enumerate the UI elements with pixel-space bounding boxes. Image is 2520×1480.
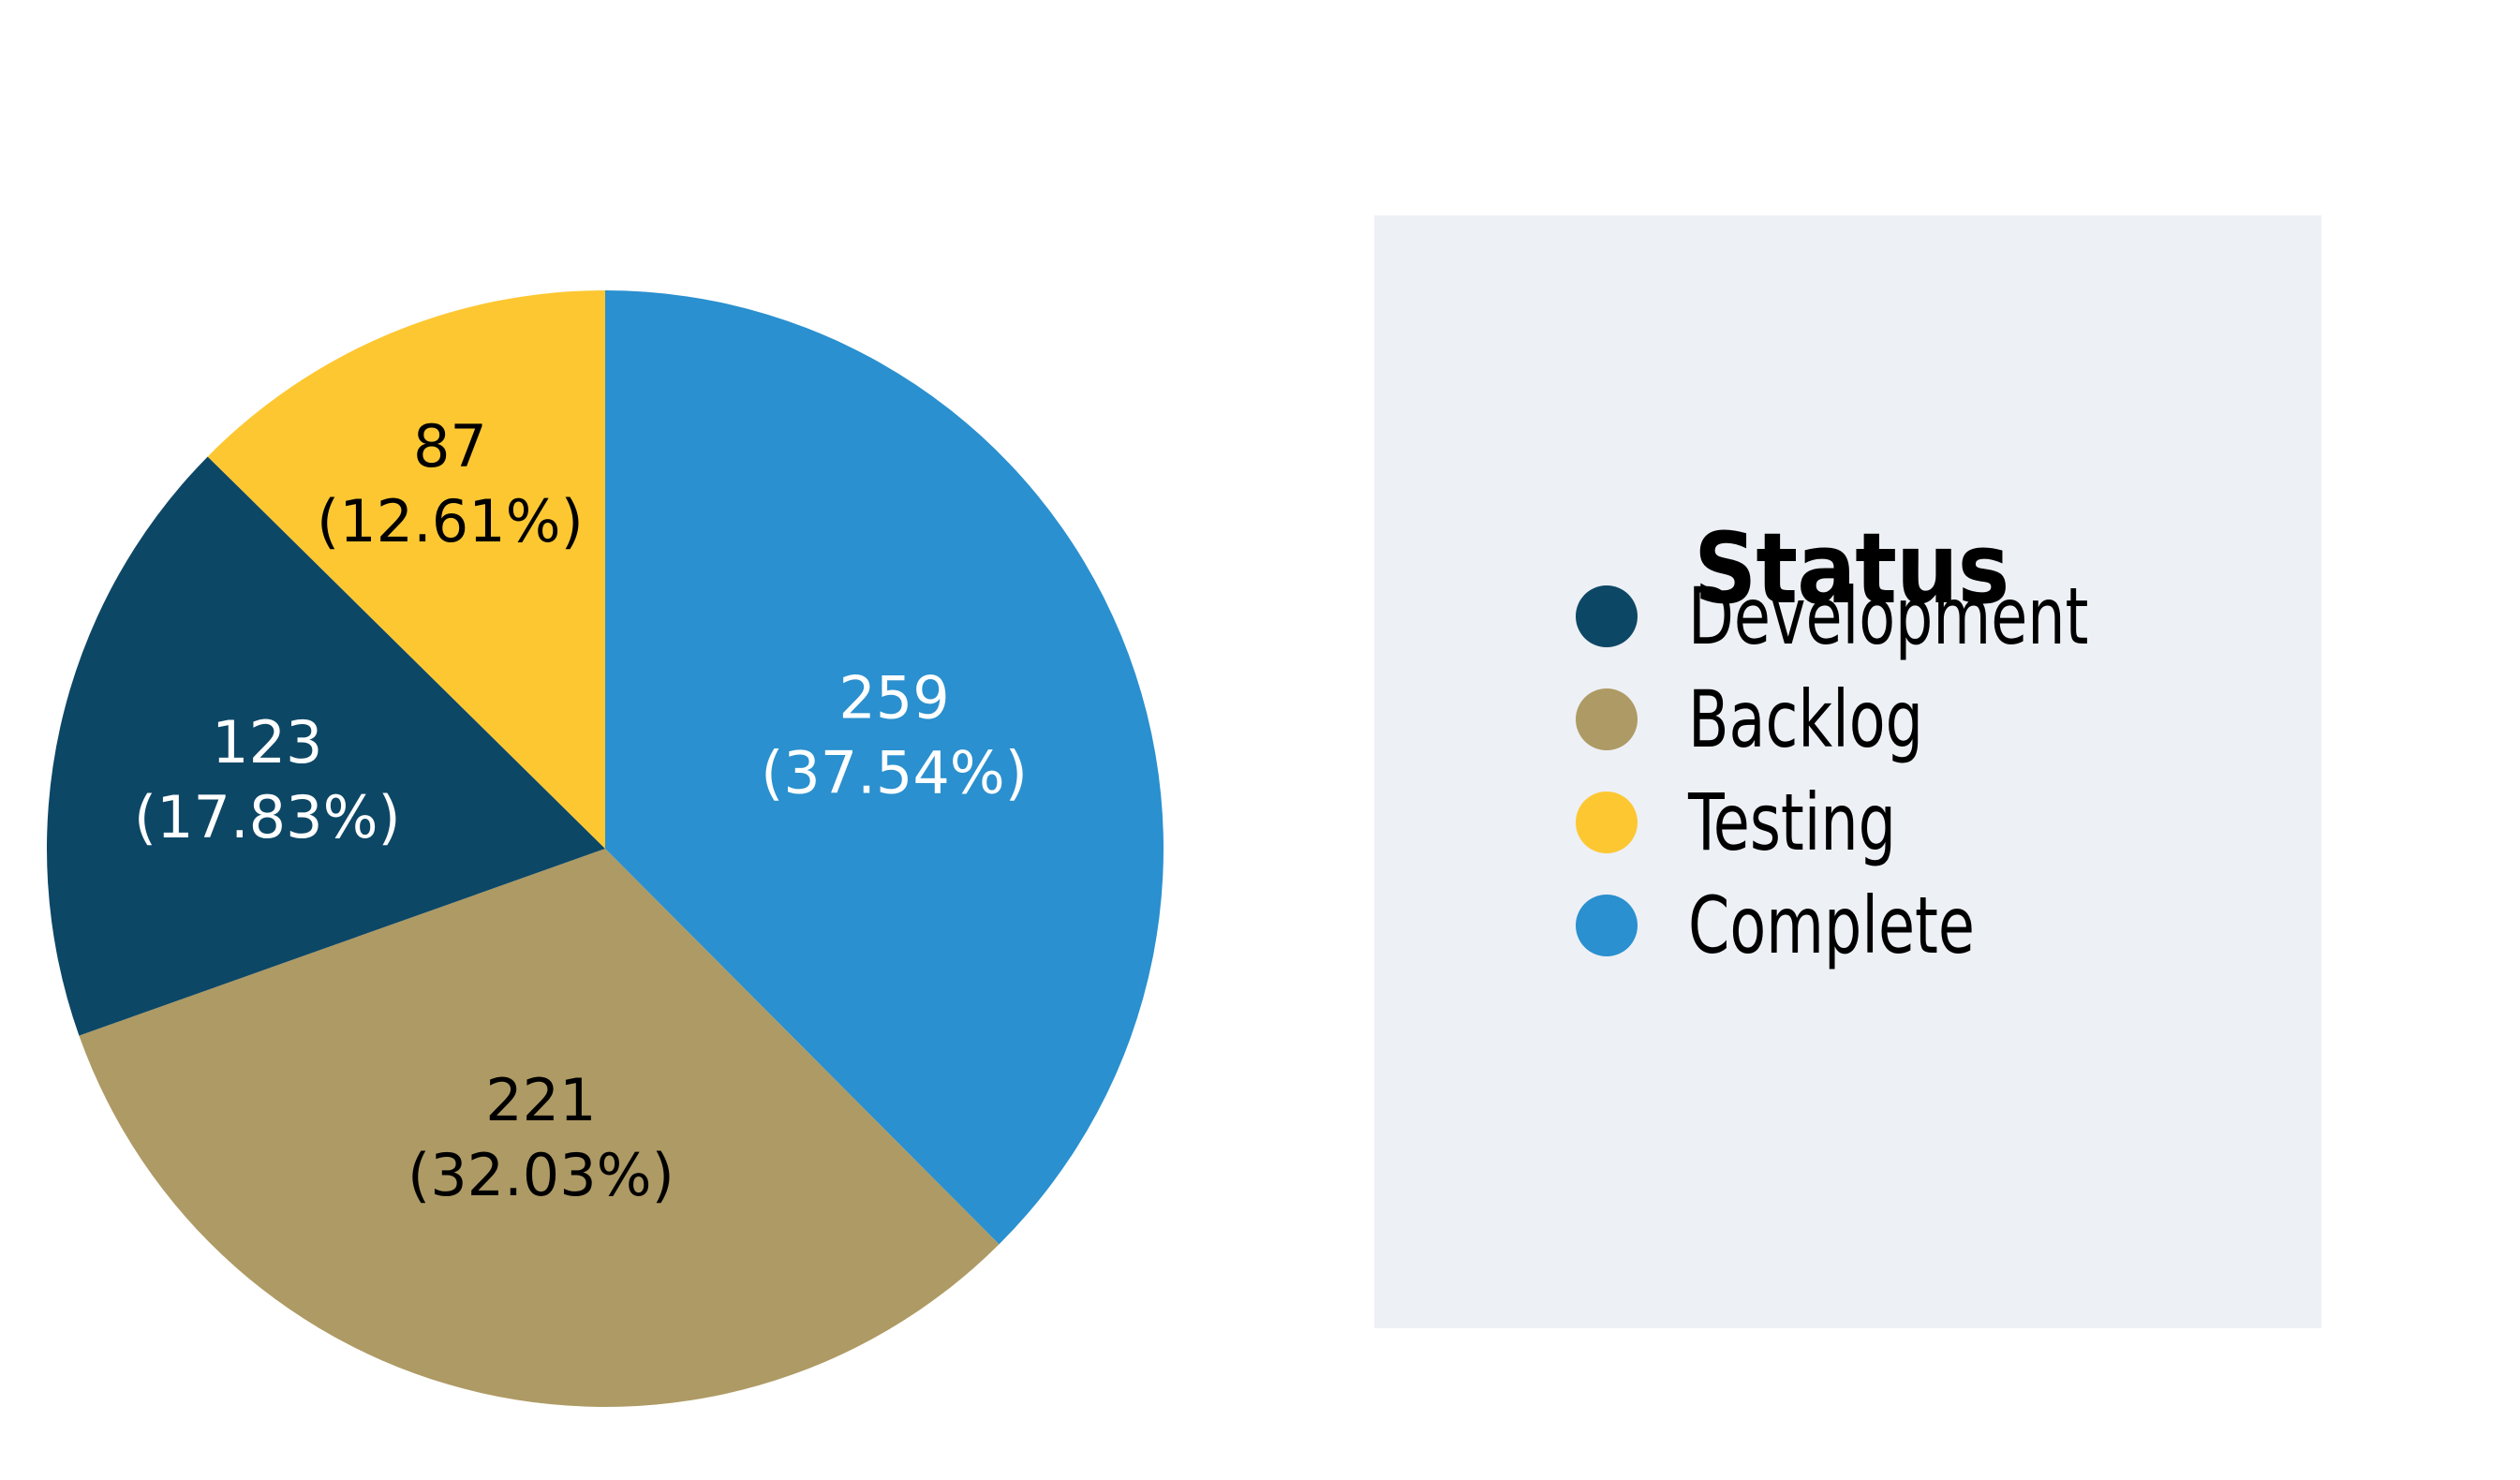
legend-panel: Status DevelopmentBacklogTestingComplete	[1374, 215, 2321, 1328]
pie-chart-figure: 259(37.54%)221(32.03%)123(17.83%)87(12.6…	[0, 0, 1349, 1480]
legend-item-development[interactable]: Development	[1576, 583, 2165, 650]
legend-item-backlog[interactable]: Backlog	[1576, 686, 1968, 753]
legend-item-testing[interactable]: Testing	[1576, 789, 1935, 856]
legend-swatch-circle-icon	[1576, 585, 1638, 647]
slice-value-text: 259	[838, 664, 949, 733]
slice-percent-text: (37.54%)	[761, 739, 1028, 807]
legend-item-label: Complete	[1688, 886, 1975, 965]
pie-chart-svg: 259(37.54%)221(32.03%)123(17.83%)87(12.6…	[0, 0, 1349, 1480]
slice-value-text: 123	[212, 708, 322, 777]
legend-item-label: Testing	[1688, 783, 1896, 862]
legend-swatch-circle-icon	[1576, 792, 1638, 853]
slice-value-text: 221	[485, 1066, 596, 1134]
legend-item-label: Backlog	[1688, 680, 1923, 759]
legend-item-label: Development	[1688, 577, 2088, 656]
slice-percent-text: (12.61%)	[317, 487, 584, 555]
slice-percent-text: (17.83%)	[134, 783, 401, 851]
slice-value-text: 87	[413, 412, 487, 481]
legend-item-complete[interactable]: Complete	[1576, 892, 2029, 959]
legend-swatch-circle-icon	[1576, 688, 1638, 750]
legend-swatch-circle-icon	[1576, 895, 1638, 956]
slice-percent-text: (32.03%)	[408, 1141, 674, 1209]
